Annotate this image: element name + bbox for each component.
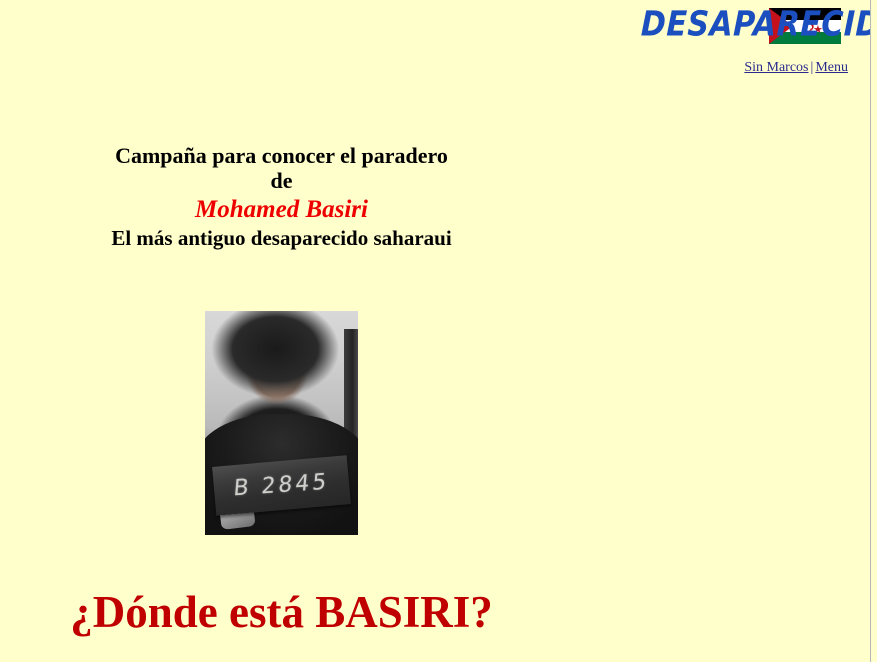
basiri-photo: B 2845 (205, 311, 358, 535)
frame-gutter (871, 0, 877, 662)
photo-placard: B 2845 (212, 455, 350, 516)
site-header: ★ DESAPARECIDOS Sin Marcos|Menu (0, 0, 866, 86)
page-root: ★ DESAPARECIDOS Sin Marcos|Menu Campaña … (0, 0, 877, 662)
photo-image: B 2845 (205, 311, 358, 535)
nav-link-menu[interactable]: Menu (815, 60, 848, 75)
heading-subtitle: El más antiguo desaparecido saharaui (0, 227, 563, 251)
header-nav: Sin Marcos|Menu (744, 60, 848, 76)
heading-line-1: Campaña para conocer el paradero (0, 143, 563, 168)
frame-divider (870, 0, 871, 662)
where-is-basiri-question: ¿Dónde está BASIRI? (0, 586, 563, 638)
heading-person-name: Mohamed Basiri (0, 193, 563, 227)
photo-placard-number: B 2845 (212, 456, 350, 515)
site-banner: ★ DESAPARECIDOS (641, 2, 856, 48)
heading-line-2: de (0, 168, 563, 193)
campaign-heading: Campaña para conocer el paradero de Moha… (0, 143, 563, 251)
nav-link-sin-marcos[interactable]: Sin Marcos (744, 60, 808, 75)
site-wordmark: DESAPARECIDOS (640, 0, 857, 51)
